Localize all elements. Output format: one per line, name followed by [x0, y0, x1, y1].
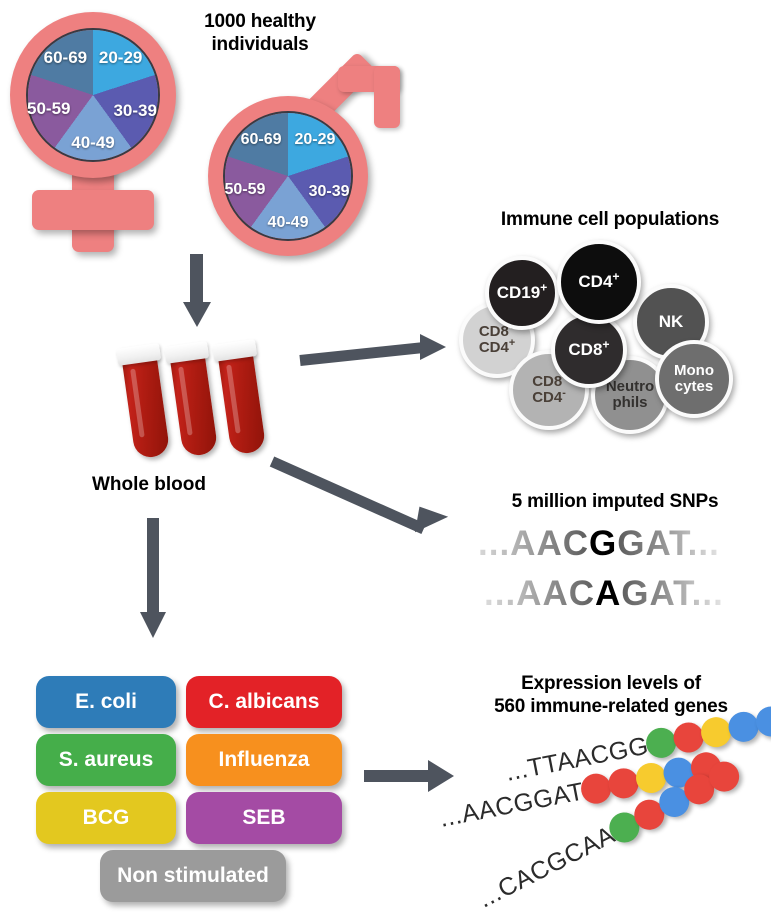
blood-tube: [216, 340, 266, 456]
immune-cell-cd19[interactable]: CD19+: [485, 256, 559, 330]
blood-tubes: [112, 346, 302, 466]
female-symbol-crossbar: [32, 190, 154, 230]
blood-tube: [168, 342, 218, 458]
immune-cell-label: Monocytes: [674, 363, 714, 394]
expression-title-line2: 560 immune-related genes: [456, 695, 766, 718]
stimulus-c-albicans[interactable]: C. albicans: [186, 676, 342, 728]
age-group-label: 50-59: [27, 99, 70, 119]
stimulus-label: Influenza: [218, 748, 309, 772]
page-title-line2: individuals: [170, 33, 350, 56]
immune-cell-label: CD19+: [497, 284, 548, 302]
stimulus-e-coli[interactable]: E. coli: [36, 676, 176, 728]
snp-allele-1: ...AACGGAT...: [478, 524, 720, 564]
stimulus-label: BCG: [83, 806, 130, 830]
stimulus-label: Non stimulated: [117, 864, 269, 888]
stimulus-bcg[interactable]: BCG: [36, 792, 176, 844]
stimulus-label: E. coli: [75, 690, 137, 714]
snp1-variant: G: [589, 524, 617, 564]
stimuli-panel: E. coliC. albicansS. aureusInfluenzaBCGS…: [36, 676, 346, 896]
gene-bead: [726, 709, 761, 744]
stimulus-label: SEB: [242, 806, 285, 830]
snps-title: 5 million imputed SNPs: [465, 490, 765, 513]
stimulus-seb[interactable]: SEB: [186, 792, 342, 844]
gene-sequence-text: ...CACGCAA: [473, 820, 619, 914]
whole-blood-label: Whole blood: [92, 474, 206, 496]
stimulus-s-aureus[interactable]: S. aureus: [36, 734, 176, 786]
arrow-blood-to-snps: [272, 456, 462, 546]
age-group-label: 40-49: [268, 214, 309, 232]
expression-title-line1: Expression levels of: [456, 672, 766, 695]
page-title-line1: 1000 healthy: [170, 10, 350, 33]
snp2-suffix: GAT...: [621, 574, 724, 614]
age-group-label: 30-39: [309, 183, 350, 201]
immune-cell-cd8[interactable]: CD8+: [551, 312, 627, 388]
snp-sequences: ...AACGGAT... ...AACAGAT...: [478, 524, 758, 620]
stimulus-label: S. aureus: [59, 748, 154, 772]
immune-cell-monocytes[interactable]: Monocytes: [655, 340, 733, 418]
male-symbol-arrowhead2: [374, 66, 400, 128]
age-group-label: 50-59: [224, 181, 265, 199]
age-group-label: 40-49: [71, 133, 114, 153]
arrow-blood-to-immune: [300, 332, 460, 372]
immune-cell-label: CD4+: [578, 273, 619, 291]
age-group-label: 20-29: [99, 48, 142, 68]
stimulus-label: C. albicans: [209, 690, 320, 714]
age-group-label: 30-39: [113, 101, 156, 121]
page-title: 1000 healthy individuals: [170, 10, 350, 56]
snp1-prefix: ...AAC: [478, 524, 589, 564]
immune-cell-label: NK: [659, 313, 684, 331]
snp2-variant: A: [595, 574, 621, 614]
immune-cell-cluster: CD19+CD4+NKCD8+CD4+CD8+CD8-CD4-Neutrophi…: [465, 240, 765, 430]
snp1-suffix: GAT...: [617, 524, 720, 564]
age-group-label: 20-29: [294, 131, 335, 149]
expression-title: Expression levels of 560 immune-related …: [456, 672, 766, 718]
blood-tube: [120, 344, 170, 460]
snp-allele-2: ...AACAGAT...: [484, 574, 724, 614]
age-group-label: 60-69: [241, 131, 282, 149]
snp2-prefix: ...AAC: [484, 574, 595, 614]
immune-cell-label: Neutrophils: [606, 379, 654, 410]
gene-strands: ...TTAACGG...AACGGAT...CACGCAA: [440, 730, 770, 910]
age-group-label: 60-69: [44, 48, 87, 68]
immune-cell-label: CD8+CD4+: [479, 324, 515, 355]
immune-cell-label: CD8+: [568, 341, 609, 359]
gene-bead: [698, 715, 733, 750]
immune-title: Immune cell populations: [455, 208, 765, 231]
stimulus-non-stimulated[interactable]: Non stimulated: [100, 850, 286, 902]
gene-bead: [671, 720, 706, 755]
immune-cell-cd4[interactable]: CD4+: [557, 240, 641, 324]
stimulus-influenza[interactable]: Influenza: [186, 734, 342, 786]
immune-cell-label: CD8-CD4-: [532, 374, 566, 405]
